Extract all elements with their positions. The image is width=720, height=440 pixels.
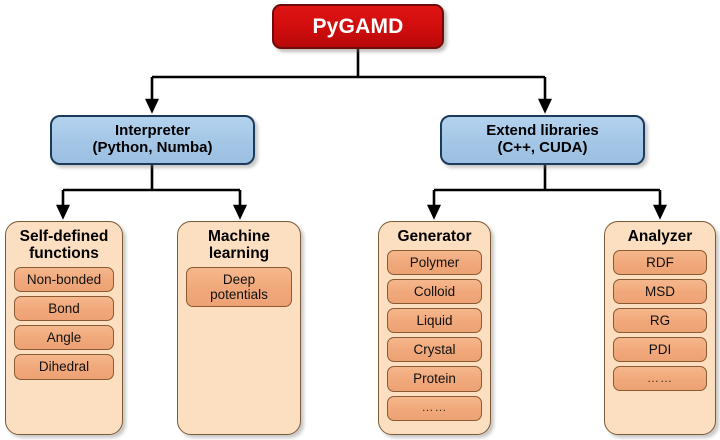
panel-item[interactable]: PDI xyxy=(613,337,707,362)
panel-item[interactable]: Liquid xyxy=(387,308,482,333)
panel-item-list: Deep potentials xyxy=(182,267,296,307)
root-node-label: PyGAMD xyxy=(312,15,403,39)
panel-item[interactable]: Dihedral xyxy=(14,354,114,379)
panel-item[interactable]: Protein xyxy=(387,366,482,391)
panel-machine-learning[interactable]: Machine learning Deep potentials xyxy=(177,221,301,435)
node-extend-libraries-label: Extend libraries (C++, CUDA) xyxy=(486,123,599,157)
panel-item[interactable]: Colloid xyxy=(387,279,482,304)
panel-item-list: RDF MSD RG PDI …… xyxy=(613,250,707,391)
panel-item-ellipsis[interactable]: …… xyxy=(387,396,482,421)
panel-item-list: Polymer Colloid Liquid Crystal Protein …… xyxy=(387,250,482,421)
panel-item[interactable]: Polymer xyxy=(387,250,482,275)
panel-generator[interactable]: Generator Polymer Colloid Liquid Crystal… xyxy=(378,221,491,435)
pygamd-architecture-diagram: PyGAMD Interpreter (Python, Numba) Exten… xyxy=(0,0,720,440)
panel-item[interactable]: Crystal xyxy=(387,337,482,362)
panel-item-ellipsis[interactable]: …… xyxy=(613,366,707,391)
panel-item[interactable]: RDF xyxy=(613,250,707,275)
panel-title: Self-defined functions xyxy=(20,228,109,262)
panel-item[interactable]: Angle xyxy=(14,325,114,350)
panel-item[interactable]: MSD xyxy=(613,279,707,304)
panel-analyzer[interactable]: Analyzer RDF MSD RG PDI …… xyxy=(604,221,716,435)
panel-title: Analyzer xyxy=(628,228,693,245)
root-node-pygamd[interactable]: PyGAMD xyxy=(272,4,444,49)
panel-title: Machine learning xyxy=(208,228,270,262)
panel-title: Generator xyxy=(397,228,471,245)
node-interpreter[interactable]: Interpreter (Python, Numba) xyxy=(50,115,255,165)
panel-item[interactable]: Non-bonded xyxy=(14,267,114,292)
panel-item[interactable]: Bond xyxy=(14,296,114,321)
panel-item[interactable]: Deep potentials xyxy=(186,267,292,307)
panel-item-list: Non-bonded Bond Angle Dihedral xyxy=(14,267,114,379)
node-interpreter-label: Interpreter (Python, Numba) xyxy=(93,123,213,157)
node-extend-libraries[interactable]: Extend libraries (C++, CUDA) xyxy=(440,115,645,165)
panel-item[interactable]: RG xyxy=(613,308,707,333)
panel-self-defined-functions[interactable]: Self-defined functions Non-bonded Bond A… xyxy=(5,221,123,435)
